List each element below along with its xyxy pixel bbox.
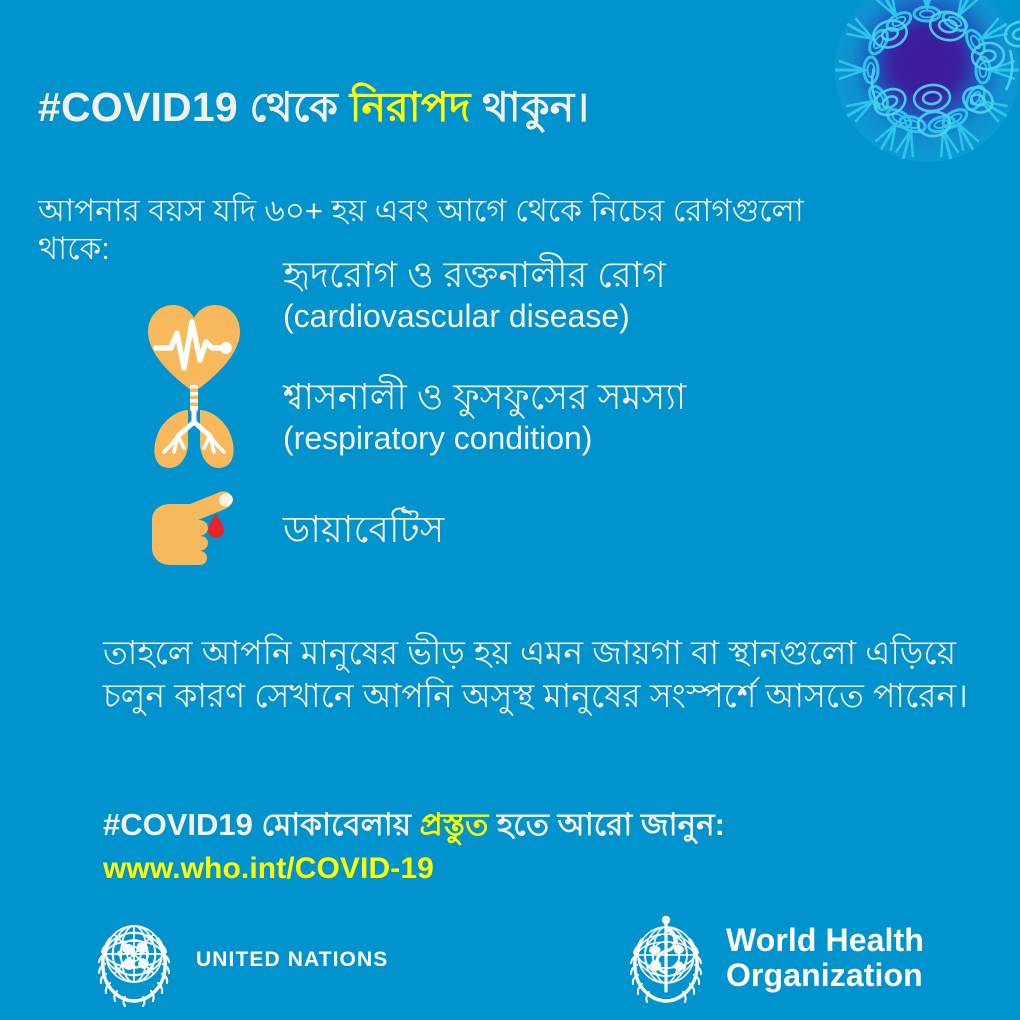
condition-label-en: (respiratory condition) [283, 420, 686, 458]
united-nations-logo: UNITED NATIONS [92, 913, 388, 1007]
call-to-action: #COVID19 মোকাবেলায় প্রস্তুত হতে আরো জান… [103, 805, 983, 888]
cta-pre: #COVID19 মোকাবেলায় [103, 807, 420, 842]
headline-highlight: নিরাপদ [350, 84, 471, 130]
headline-post: থাকুন। [471, 84, 590, 130]
condition-text: শ্বাসনালী ও ফুসফুসের সমস্যা (respiratory… [283, 376, 686, 458]
condition-text: ডায়াবেটিস [283, 508, 444, 552]
world-health-organization-logo: World Health Organization [620, 907, 924, 1009]
headline-pre: #COVID19 থেকে [38, 84, 350, 130]
lungs-icon [140, 376, 248, 476]
who-label-line1: World Health [726, 923, 924, 958]
cta-highlight: প্রস্তুত [420, 807, 489, 842]
condition-text: হৃদরোগ ও রক্তনালীর রোগ (cardiovascular d… [283, 254, 666, 336]
list-item: শ্বাসনালী ও ফুসফুসের সমস্যা (respiratory… [140, 374, 1000, 484]
advice-paragraph: তাহলে আপনি মানুষের ভীড় হয় এমন জায়গা ব… [103, 632, 983, 718]
list-item: ডায়াবেটিস [140, 484, 1000, 584]
condition-label-bn: ডায়াবেটিস [283, 508, 444, 552]
who-label: World Health Organization [726, 923, 924, 992]
cta-post: হতে আরো জানুন: [488, 807, 725, 842]
who-label-line2: Organization [726, 958, 924, 993]
who-url-link[interactable]: www.who.int/COVID-19 [103, 849, 983, 888]
list-item: হৃদরোগ ও রক্তনালীর রোগ (cardiovascular d… [140, 256, 1000, 374]
condition-label-en: (cardiovascular disease) [283, 298, 666, 336]
united-nations-label: UNITED NATIONS [196, 949, 388, 972]
footer-logos: UNITED NATIONS [0, 905, 1020, 1020]
conditions-list: হৃদরোগ ও রক্তনালীর রোগ (cardiovascular d… [140, 256, 1000, 584]
finger-blood-drop-icon [140, 484, 248, 584]
condition-label-bn: হৃদরোগ ও রক্তনালীর রোগ [283, 254, 666, 296]
covid-awareness-poster: #COVID19 থেকে নিরাপদ থাকুন। আপনার বয়স য… [0, 0, 1020, 1020]
headline: #COVID19 থেকে নিরাপদ থাকুন। [38, 84, 938, 131]
condition-label-bn: শ্বাসনালী ও ফুসফুসের সমস্যা [283, 376, 686, 418]
united-nations-emblem-icon [92, 913, 176, 1007]
who-emblem-icon [620, 907, 712, 1009]
